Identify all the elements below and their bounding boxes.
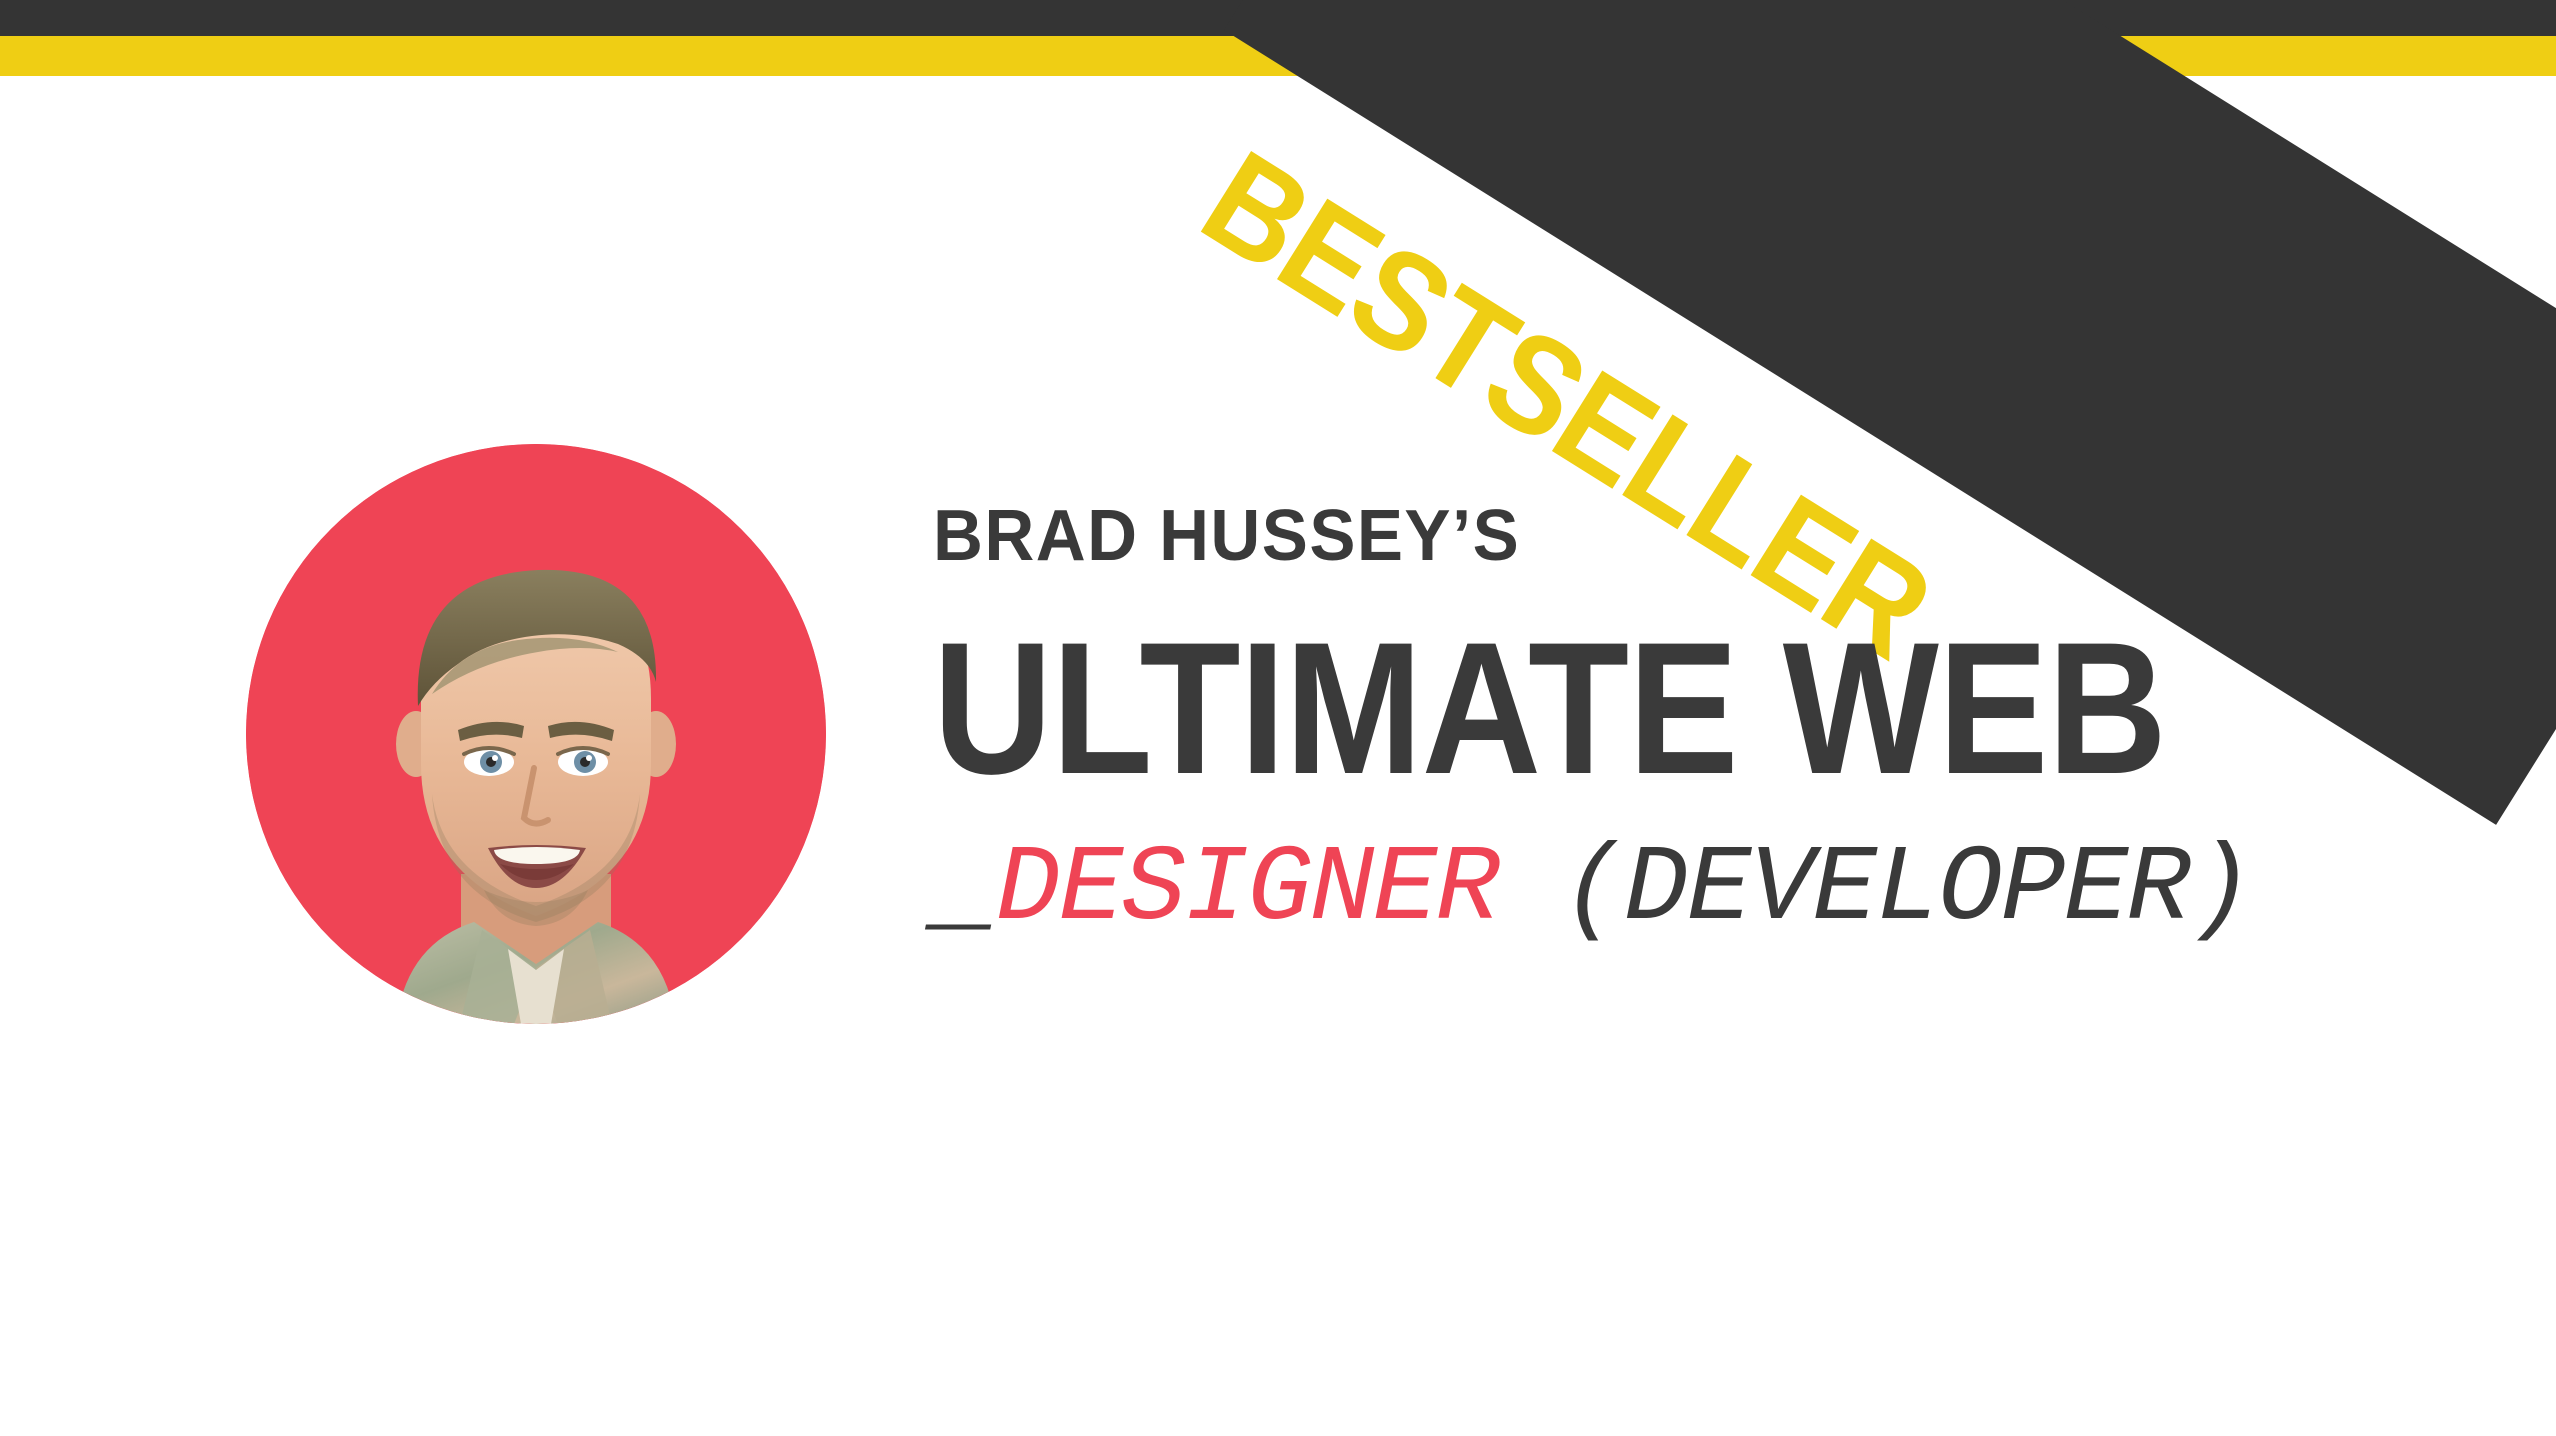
course-banner: BESTSELLER #1 (0, 0, 2556, 1436)
top-dark-stripe (0, 0, 2556, 36)
subtitle-developer: (DEVELOPER) (1498, 829, 2252, 951)
portrait-illustration (246, 444, 826, 1024)
subtitle-underscore: _ (933, 829, 996, 951)
avatar-photo (246, 444, 826, 1024)
subtitle-line: _DESIGNER (DEVELOPER) (933, 836, 2493, 944)
subtitle-designer: DESIGNER (996, 829, 1498, 951)
kicker-text: BRAD HUSSEY’S (933, 500, 2431, 572)
headline-block: BRAD HUSSEY’S ULTIMATE WEB _DESIGNER (DE… (933, 500, 2493, 944)
top-yellow-stripe (0, 36, 2556, 76)
page-title: ULTIMATE WEB (933, 614, 2306, 802)
avatar (246, 444, 826, 1024)
